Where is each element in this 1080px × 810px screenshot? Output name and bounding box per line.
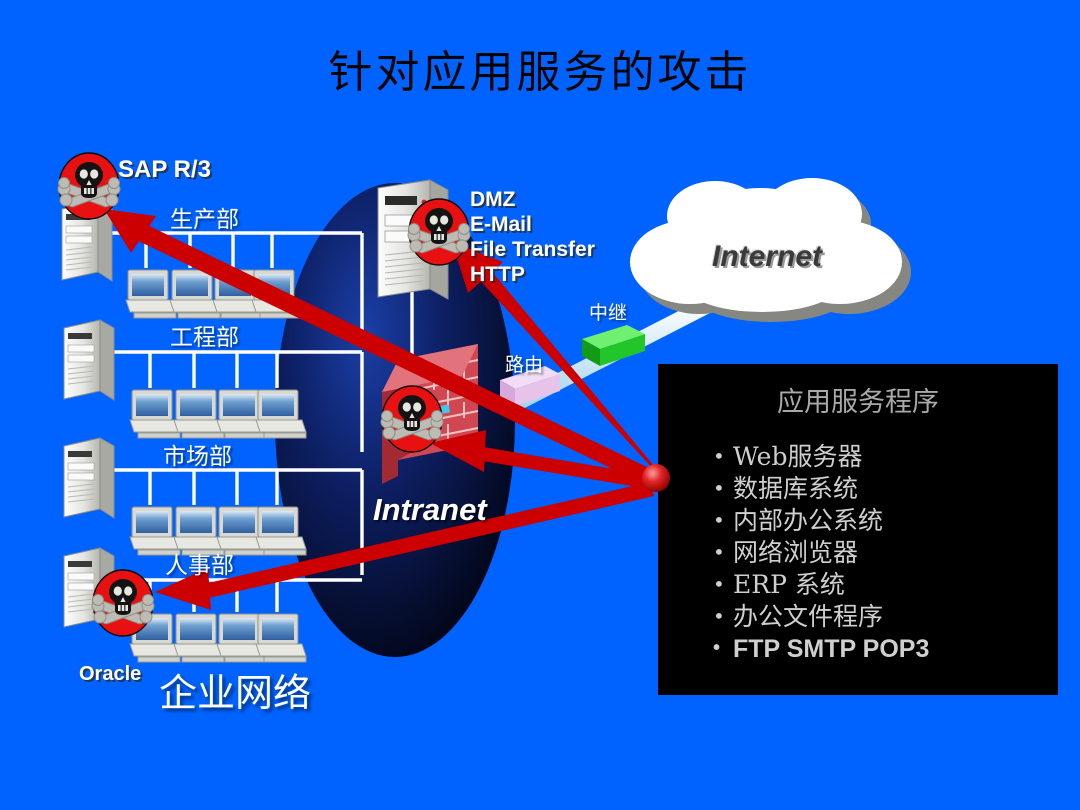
- skull-icons-layer: [0, 0, 1080, 810]
- skull-icon-sap: [58, 153, 120, 219]
- slide-canvas: 针对应用服务的攻击: [0, 0, 1080, 810]
- skull-icon-oracle: [92, 570, 154, 636]
- page-title: 针对应用服务的攻击: [0, 36, 1080, 100]
- skull-icon-dmz: [408, 199, 470, 265]
- skull-icon-firewall: [381, 386, 443, 452]
